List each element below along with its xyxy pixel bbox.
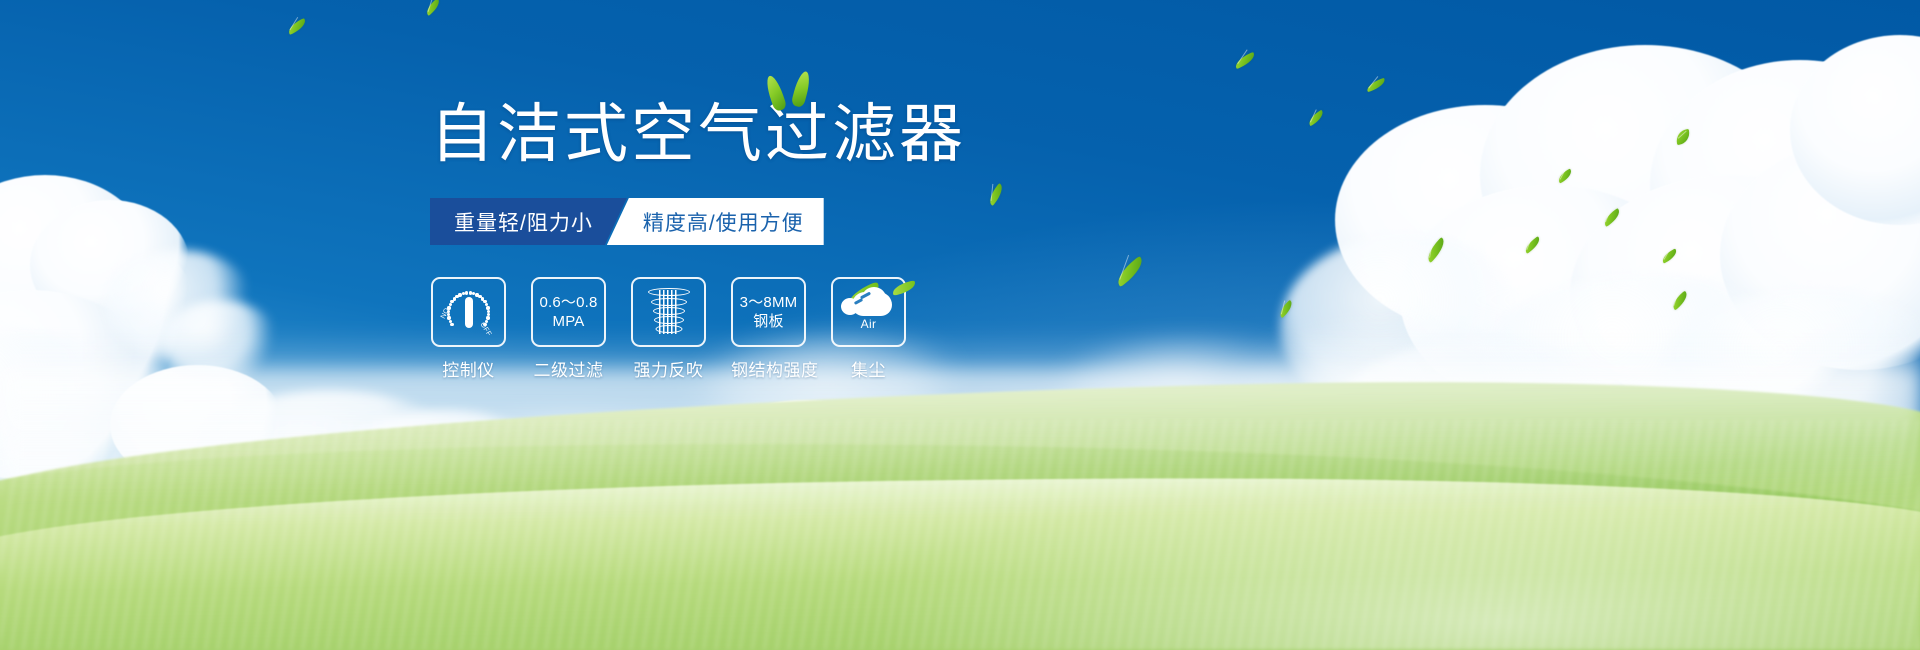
- page-title: 自洁式空气过滤器: [430, 95, 966, 173]
- product-hero-banner: 自洁式空气过滤器 重量轻/阻力小 精度高/使用方便 NO OFF 控: [0, 0, 1920, 650]
- feature-icon-row: NO OFF 控制仪 0.6～0.8 MPA 二级过滤: [431, 277, 906, 381]
- steel-plate-text: 钢板: [753, 312, 783, 331]
- stacked-discs-icon: [646, 286, 692, 338]
- steel-thickness-text: 3～8MM: [740, 293, 798, 312]
- title-block: 自洁式空气过滤器: [430, 95, 1090, 179]
- feature-item-two-stage-filter[interactable]: 0.6～0.8 MPA 二级过滤: [531, 277, 606, 381]
- feature-label-controller: 控制仪: [431, 356, 506, 381]
- two-leaves-icon: [765, 69, 823, 115]
- feature-item-steel-strength[interactable]: 3～8MM 钢板 钢结构强度: [731, 277, 806, 381]
- pressure-value-icon: 0.6～0.8 MPA: [531, 277, 606, 347]
- feature-item-controller[interactable]: NO OFF 控制仪: [431, 277, 506, 381]
- grass-texture: [0, 420, 1920, 650]
- control-dial-icon: NO OFF: [441, 288, 497, 336]
- feature-label-strong-backblow: 强力反吹: [631, 356, 706, 381]
- steel-plate-icon: 3～8MM 钢板: [731, 277, 806, 347]
- air-text: Air: [838, 317, 900, 331]
- feature-item-strong-backblow[interactable]: 强力反吹: [631, 277, 706, 381]
- banner-content: 自洁式空气过滤器 重量轻/阻力小 精度高/使用方便 NO OFF 控: [430, 95, 1090, 179]
- tagline-bar: 重量轻/阻力小 精度高/使用方便: [430, 198, 824, 245]
- tag-lightweight-lowresistance: 重量轻/阻力小: [430, 198, 627, 245]
- pressure-range-text: 0.6～0.8: [539, 293, 597, 312]
- backblow-icon-box: [631, 277, 706, 347]
- feature-label-dust-collection: 集尘: [831, 356, 906, 381]
- feature-label-steel-strength: 钢结构强度: [731, 356, 806, 381]
- feature-item-dust-collection[interactable]: Air 集尘: [831, 277, 906, 381]
- feature-label-two-stage-filter: 二级过滤: [531, 356, 606, 381]
- controller-icon-box: NO OFF: [431, 277, 506, 347]
- air-cloud-icon: Air: [838, 288, 900, 336]
- pressure-unit-text: MPA: [553, 312, 585, 331]
- tag-precision-easyuse: 精度高/使用方便: [607, 198, 824, 245]
